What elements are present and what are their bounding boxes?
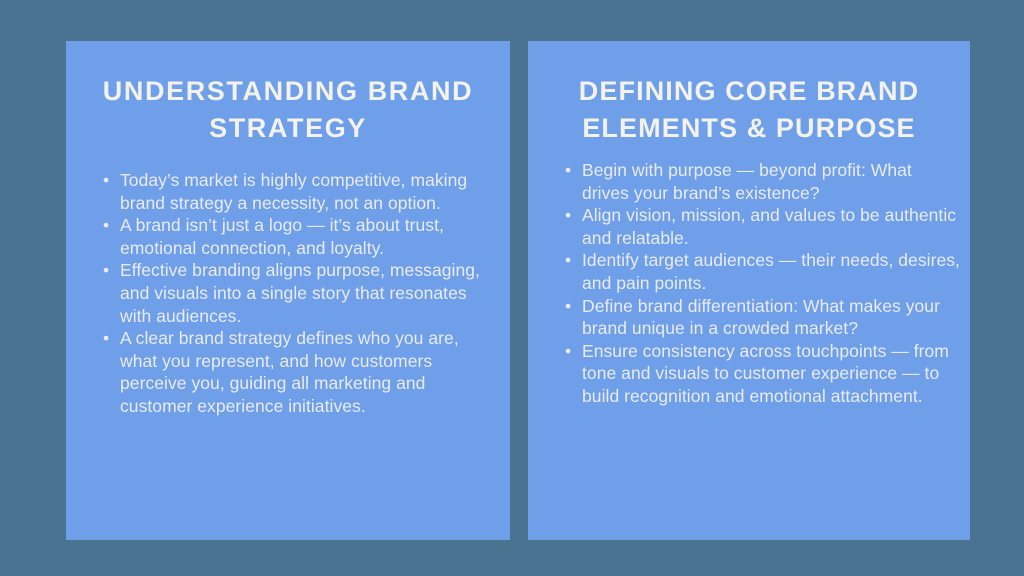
bullet-point-icon: • [565, 295, 571, 318]
list-item: • Ensure consistency across touchpoints … [564, 340, 960, 408]
bullet-list-right: • Begin with purpose — beyond profit: Wh… [528, 159, 970, 408]
bullet-point-icon: • [565, 340, 571, 363]
bullet-point-icon: • [103, 169, 109, 192]
list-item-text: A clear brand strategy defines who you a… [120, 327, 494, 417]
panel-defining-core-brand-elements: Defining Core Brand Elements & Purpose •… [528, 41, 970, 540]
list-item-text: Effective branding aligns purpose, messa… [120, 259, 494, 327]
list-item: • Effective branding aligns purpose, mes… [102, 259, 494, 327]
list-item: • Identify target audiences — their need… [564, 249, 960, 294]
bullet-point-icon: • [103, 214, 109, 237]
list-item: • A brand isn’t just a logo — it’s about… [102, 214, 494, 259]
list-item: • A clear brand strategy defines who you… [102, 327, 494, 417]
bullet-point-icon: • [103, 259, 109, 282]
list-item: • Begin with purpose — beyond profit: Wh… [564, 159, 960, 204]
list-item: • Align vision, mission, and values to b… [564, 204, 960, 249]
list-item: • Today’s market is highly competitive, … [102, 169, 494, 214]
list-item-text: Align vision, mission, and values to be … [582, 204, 960, 249]
list-item-text: A brand isn’t just a logo — it’s about t… [120, 214, 494, 259]
bullet-point-icon: • [565, 249, 571, 272]
bullet-list-left: • Today’s market is highly competitive, … [66, 169, 510, 418]
list-item-text: Define brand differentiation: What makes… [582, 295, 960, 340]
panel-title-left: Understanding Brand Strategy [66, 41, 510, 147]
slide-canvas: Understanding Brand Strategy • Today’s m… [0, 0, 1024, 576]
panel-understanding-brand-strategy: Understanding Brand Strategy • Today’s m… [66, 41, 510, 540]
bullet-point-icon: • [565, 159, 571, 182]
panel-title-right: Defining Core Brand Elements & Purpose [528, 41, 970, 147]
list-item-text: Identify target audiences — their needs,… [582, 249, 960, 294]
list-item-text: Today’s market is highly competitive, ma… [120, 169, 494, 214]
bullet-point-icon: • [565, 204, 571, 227]
list-item-text: Ensure consistency across touchpoints — … [582, 340, 960, 408]
list-item: • Define brand differentiation: What mak… [564, 295, 960, 340]
bullet-point-icon: • [103, 327, 109, 350]
list-item-text: Begin with purpose — beyond profit: What… [582, 159, 960, 204]
